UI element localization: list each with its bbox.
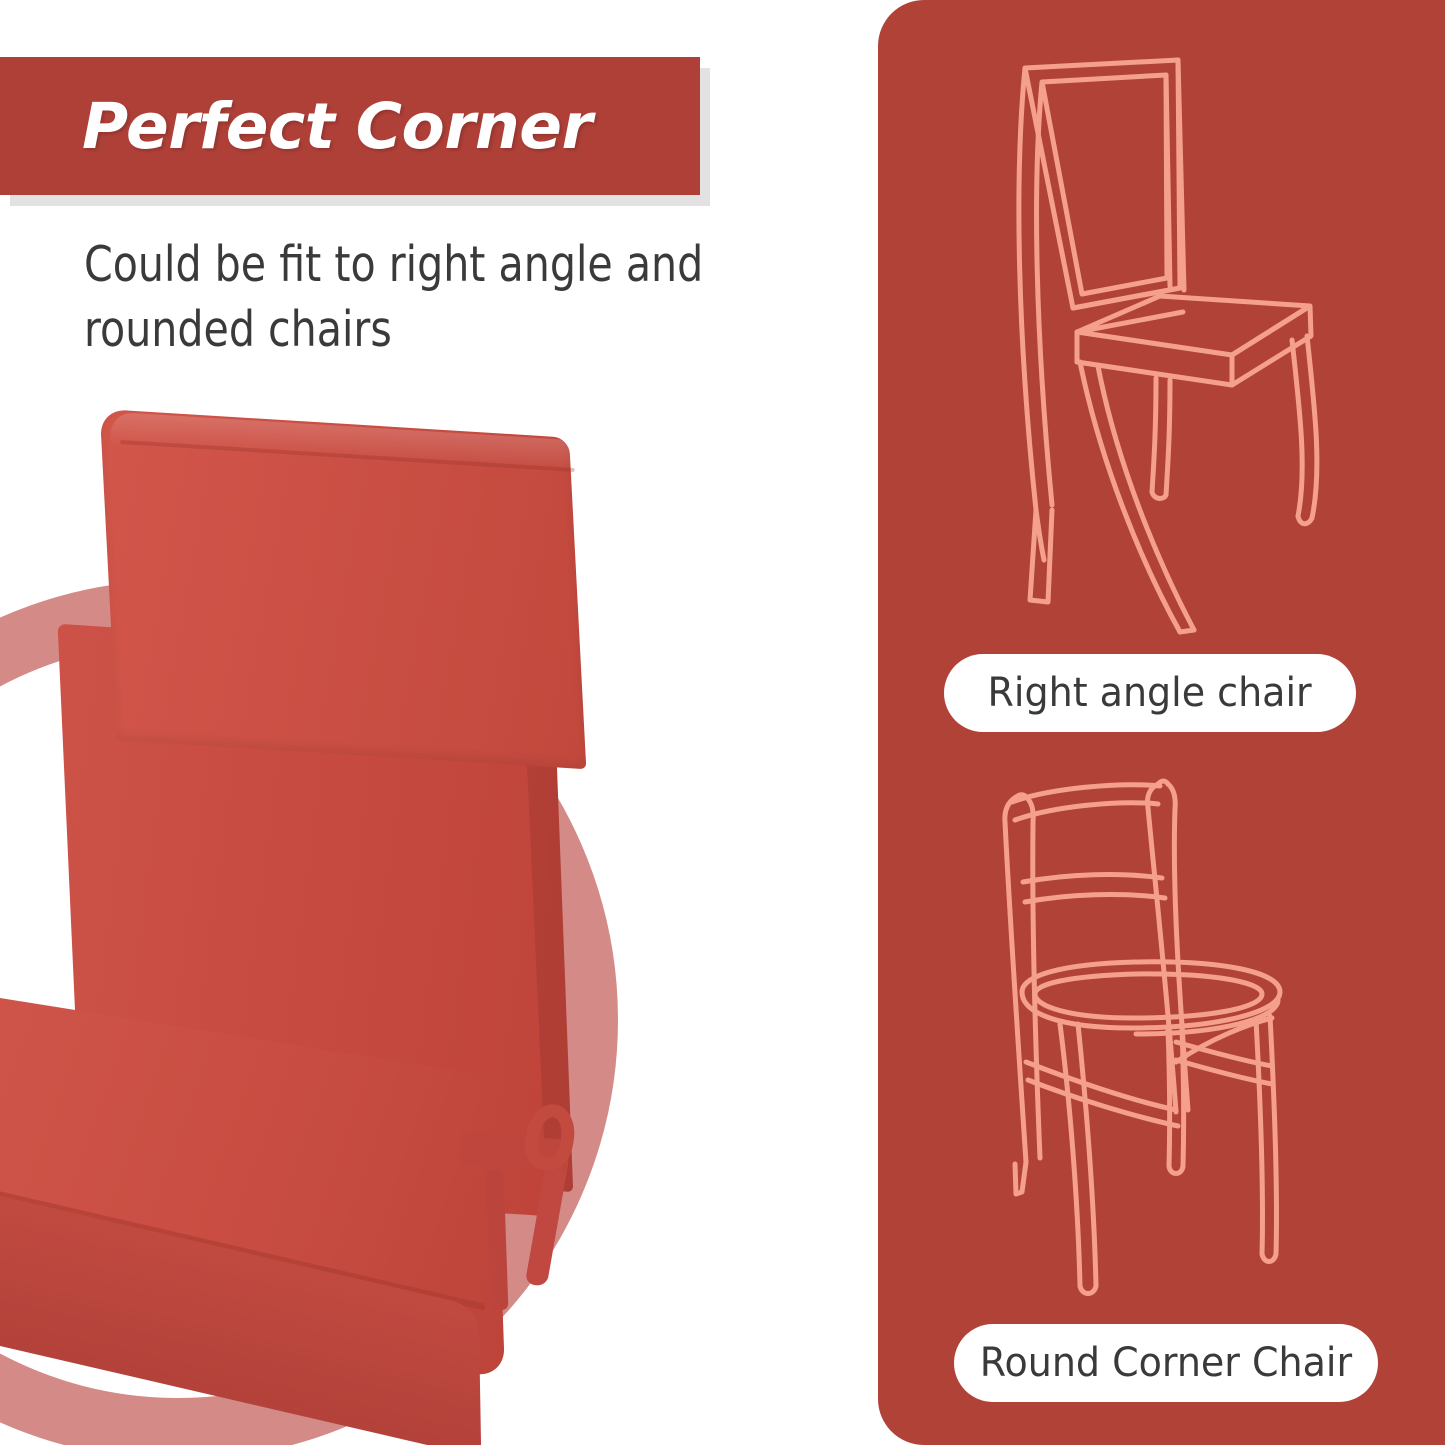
product-photo-cushion [0, 410, 660, 1420]
subtitle-text: Could be fit to right angle and rounded … [84, 232, 722, 362]
subtitle-line-1: Could be fit to right angle and [84, 232, 722, 297]
left-content-column: Perfect Corner Could be fit to right ang… [0, 0, 878, 1445]
label-text: Round Corner Chair [980, 1340, 1352, 1386]
chair-square-back-icon [970, 40, 1360, 640]
chair-round-back-icon [960, 762, 1370, 1322]
title-banner: Perfect Corner [0, 57, 700, 195]
label-text: Right angle chair [988, 670, 1312, 716]
subtitle-line-2: rounded chairs [84, 297, 722, 362]
page-title: Perfect Corner [0, 90, 592, 163]
infographic-canvas: Perfect Corner Could be fit to right ang… [0, 0, 1445, 1445]
label-pill-round-corner-chair: Round Corner Chair [954, 1324, 1378, 1402]
chair-types-panel: Right angle chair [878, 0, 1445, 1445]
label-pill-right-angle-chair: Right angle chair [944, 654, 1356, 732]
